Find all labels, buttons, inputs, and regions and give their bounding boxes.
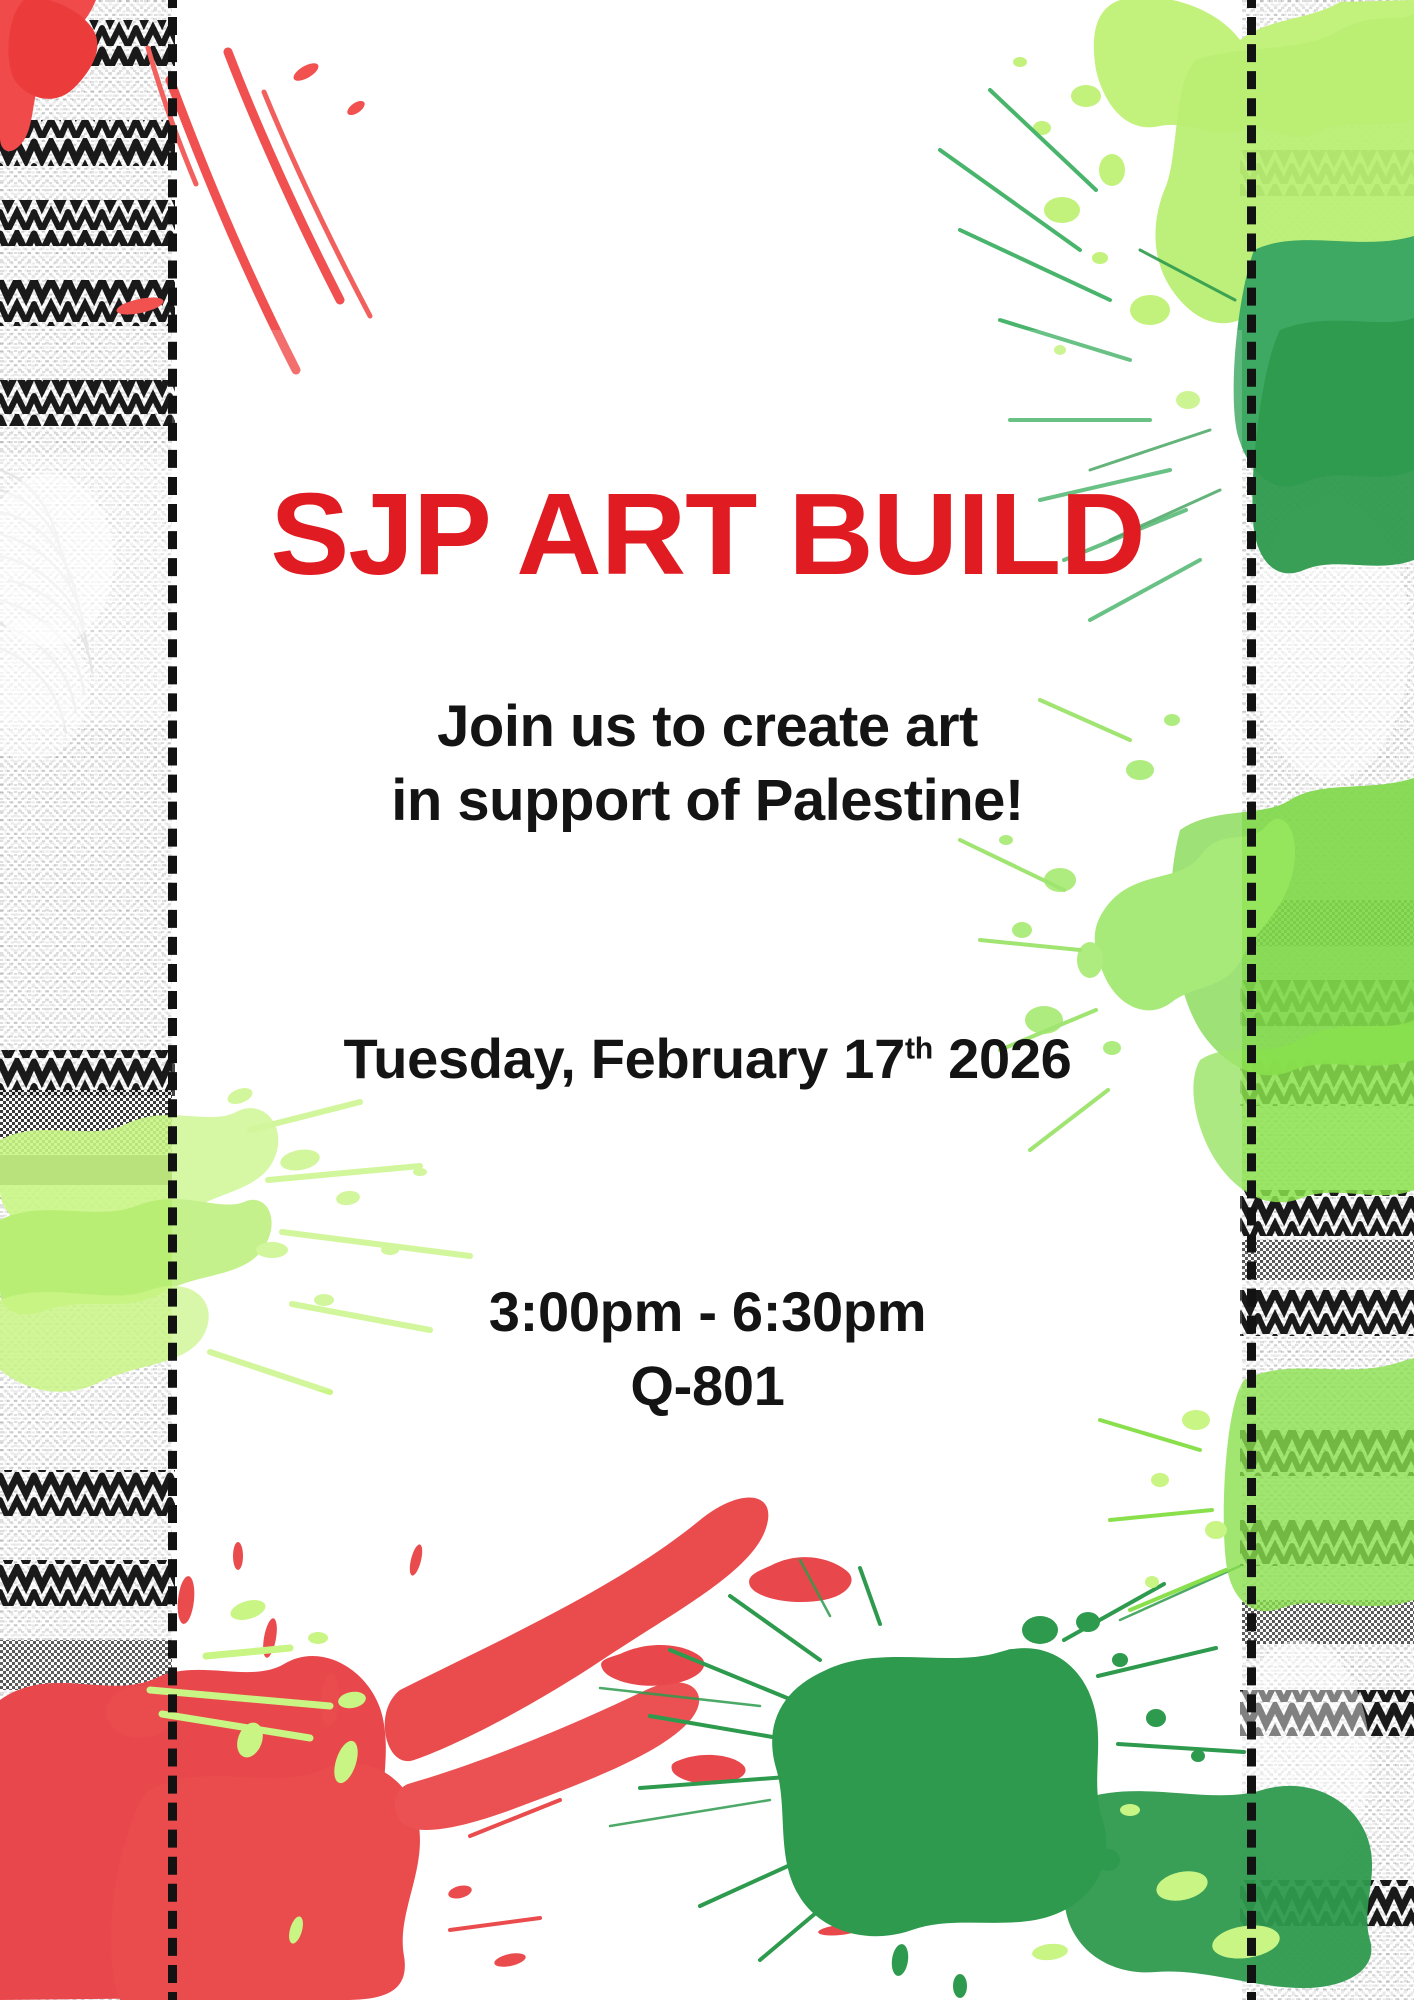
event-room: Q-801 xyxy=(168,1349,1247,1423)
event-time-location: 3:00pm - 6:30pm Q-801 xyxy=(168,1275,1247,1423)
event-date: Tuesday, February 17th 2026 xyxy=(168,1025,1247,1092)
subtitle-line-1: Join us to create art xyxy=(168,690,1247,764)
poster-content: SJP ART BUILD Join us to create art in s… xyxy=(168,0,1247,2000)
event-date-ordinal: th xyxy=(905,1032,933,1065)
subtitle-block: Join us to create art in support of Pale… xyxy=(168,690,1247,838)
event-time: 3:00pm - 6:30pm xyxy=(168,1275,1247,1349)
event-date-prefix: Tuesday, February 17 xyxy=(343,1027,905,1090)
dashed-rule-right xyxy=(1247,0,1256,2000)
event-date-year: 2026 xyxy=(933,1027,1072,1090)
keffiyeh-fringe xyxy=(0,470,92,734)
keffiyeh-right xyxy=(1230,0,1414,2000)
page-title: SJP ART BUILD xyxy=(157,476,1258,592)
poster-canvas: SJP ART BUILD Join us to create art in s… xyxy=(0,0,1414,2000)
subtitle-line-2: in support of Palestine! xyxy=(168,764,1247,838)
keffiyeh-left xyxy=(0,0,175,2000)
